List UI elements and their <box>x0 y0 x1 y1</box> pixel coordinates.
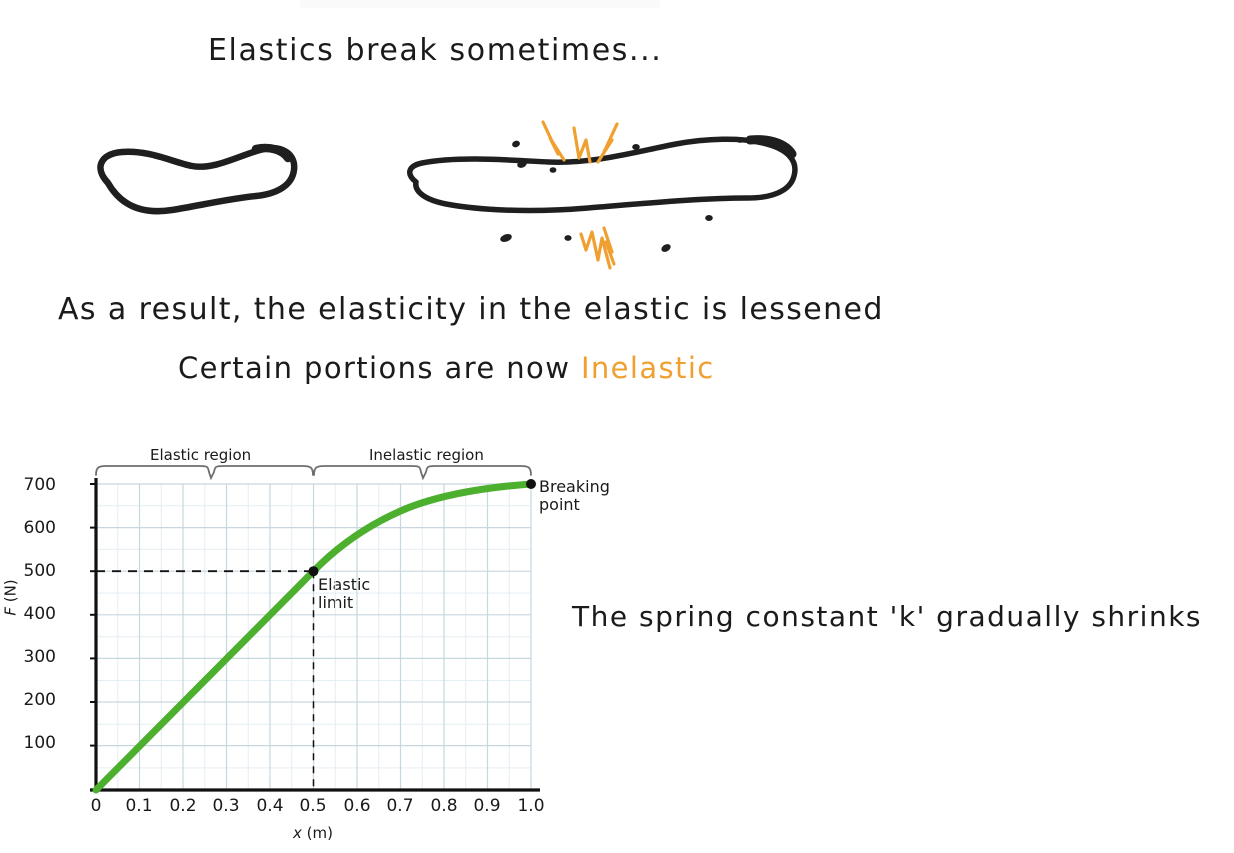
breaking-point-marker <box>526 479 536 489</box>
chart-plot-svg <box>0 438 620 848</box>
top-edge-strip <box>300 0 660 8</box>
inelastic-region-brace <box>314 466 531 478</box>
portions-sentence: Certain portions are now Inelastic <box>178 351 715 385</box>
page-title: Elastics break sometimes... <box>208 33 662 68</box>
region-braces <box>96 466 531 478</box>
force-extension-chart: 700 600 500 400 300 200 100 F (N) 0 0.1 … <box>0 438 620 848</box>
elastic-limit-marker <box>309 566 319 576</box>
spring-constant-note: The spring constant 'k' gradually shrink… <box>572 600 1202 633</box>
elastic-region-brace <box>96 466 313 478</box>
inelastic-highlight: Inelastic <box>581 351 715 385</box>
slide-canvas: Elastics break sometimes... <box>0 0 1234 853</box>
portions-prefix-text: Certain portions are now <box>178 351 581 385</box>
result-sentence: As a result, the elasticity in the elast… <box>58 292 884 327</box>
relaxed-elastic-band-illustration <box>80 128 310 227</box>
broken-elastic-band-illustration <box>398 100 818 284</box>
